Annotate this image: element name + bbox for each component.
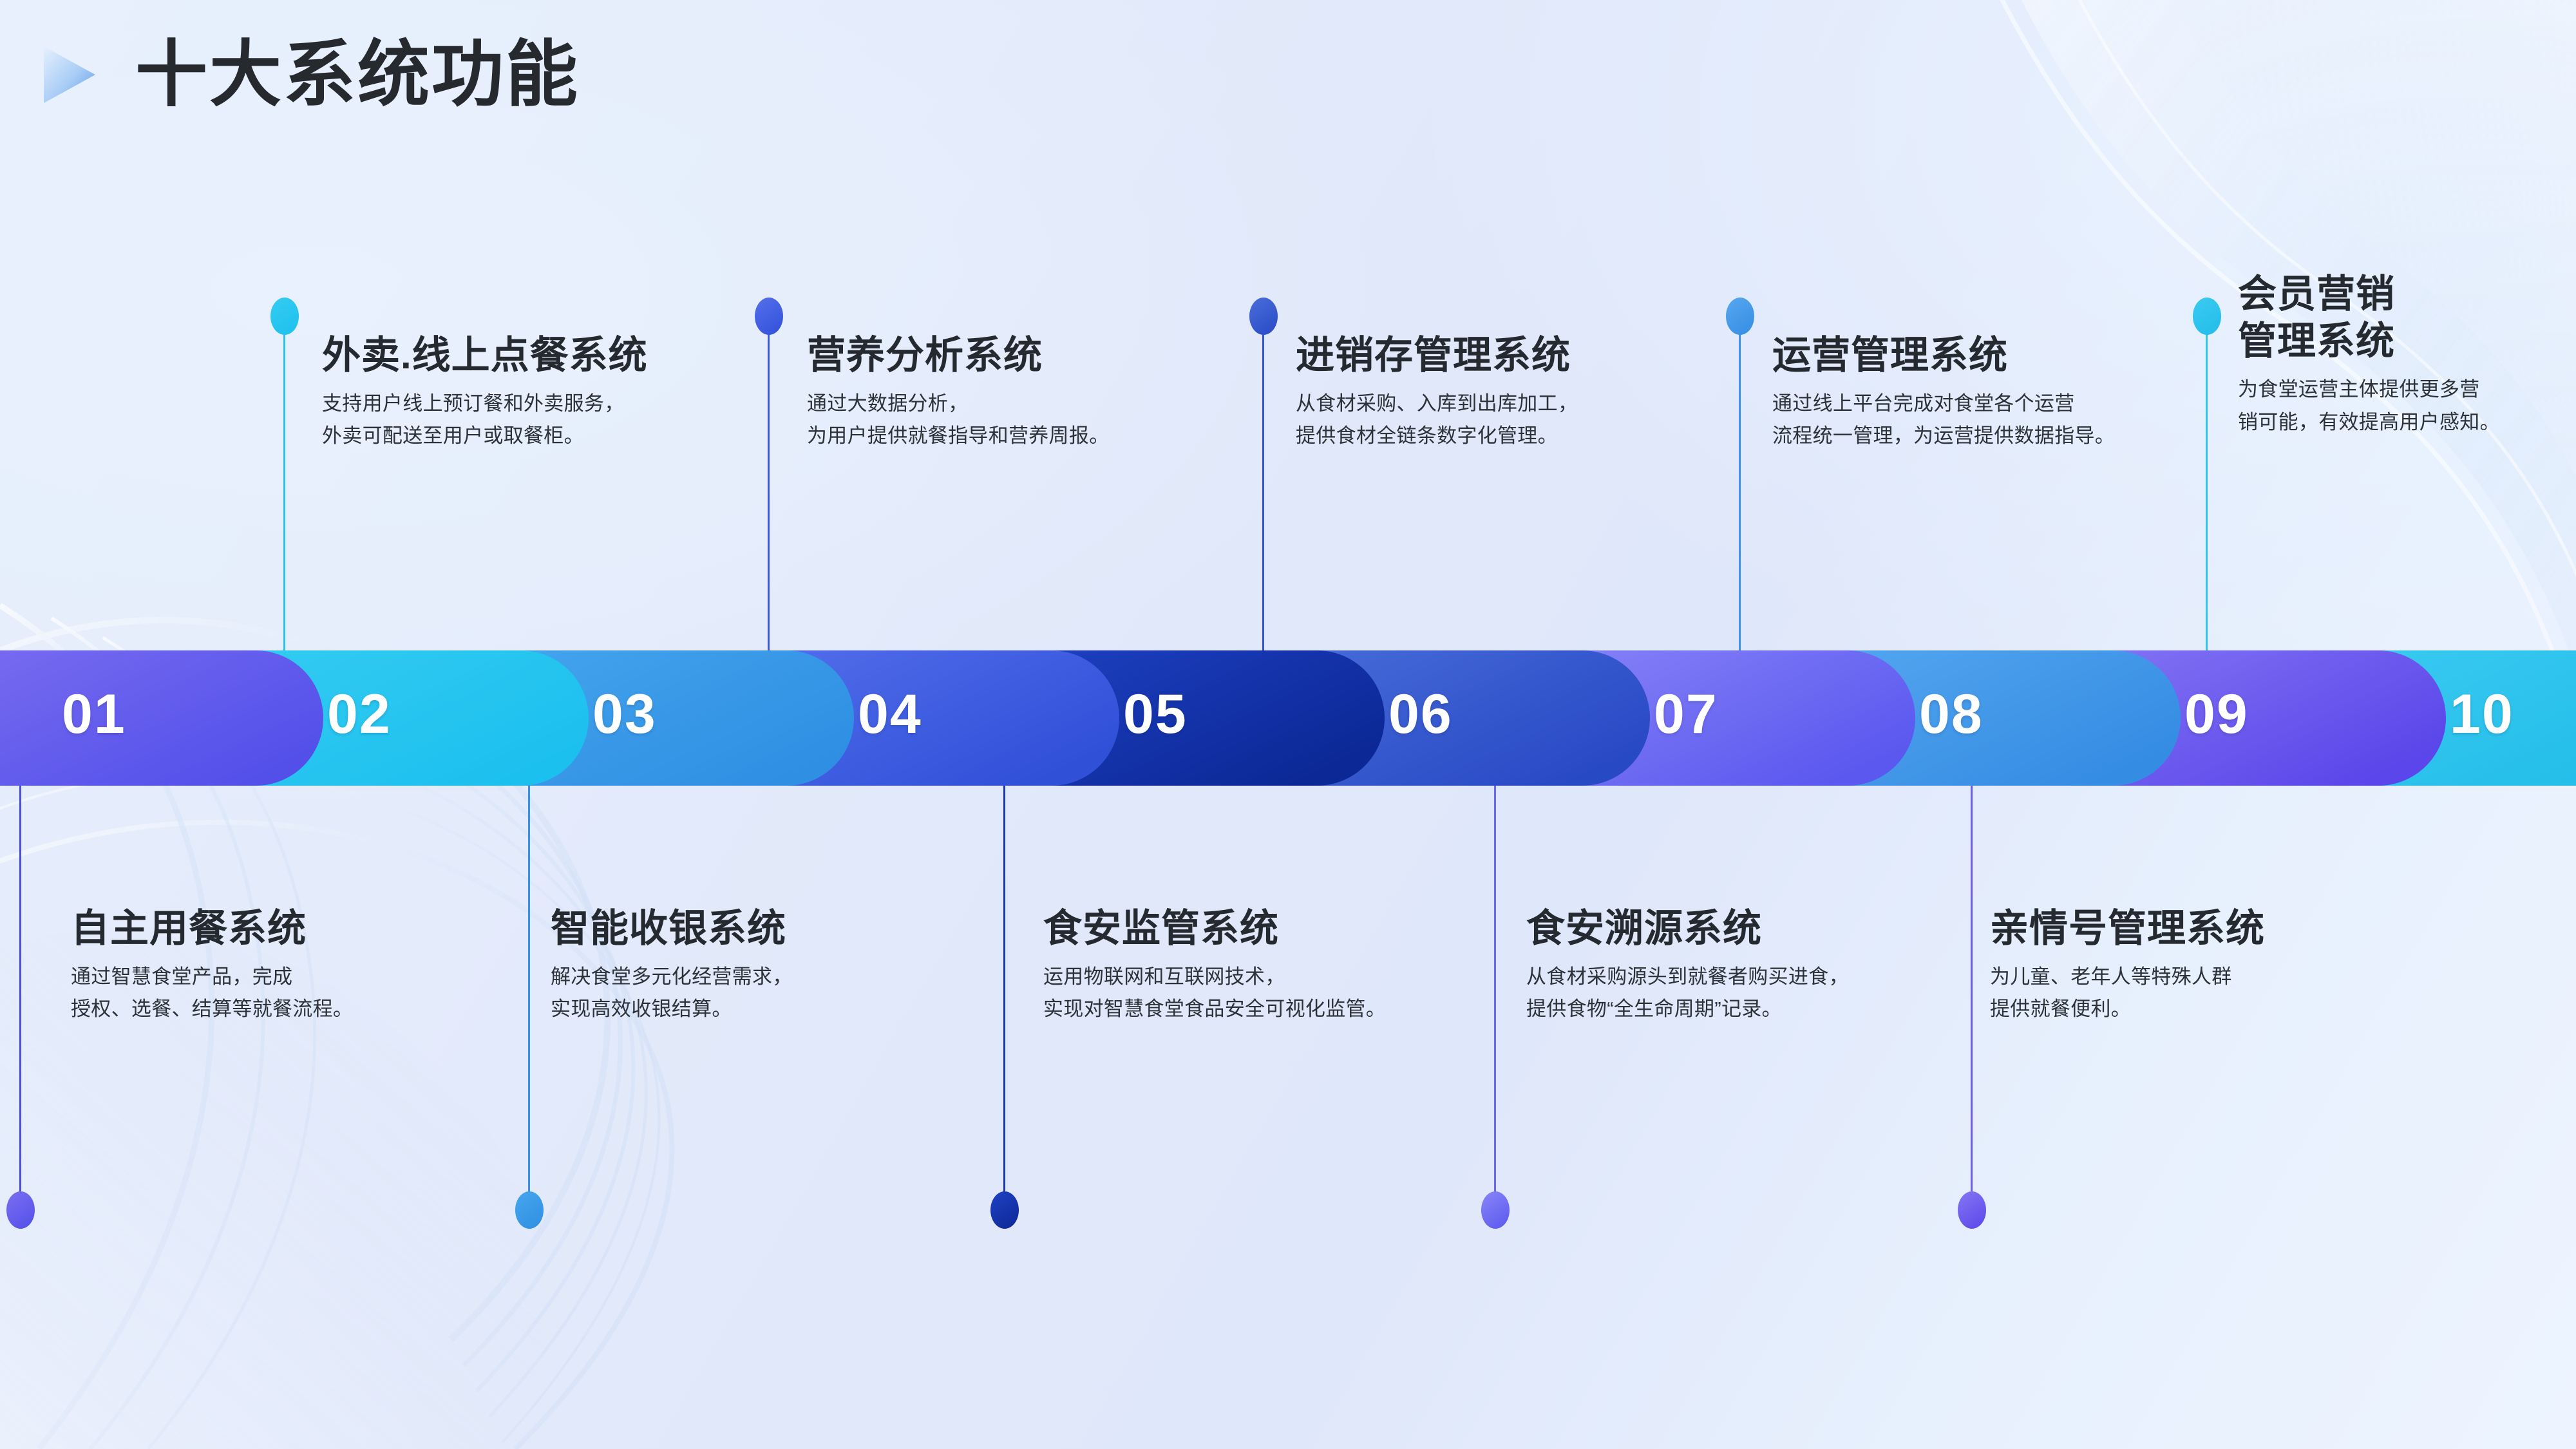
feature-block-08[interactable]: 运营管理系统通过线上平台完成对食堂各个运营 流程统一管理，为运营提供数据指导。: [1772, 332, 2115, 453]
connector-line-01: [19, 747, 21, 1211]
feature-block-09[interactable]: 亲情号管理系统为儿童、老年人等特殊人群 提供就餐便利。: [1990, 905, 2265, 1026]
feature-desc-04: 通过大数据分析， 为用户提供就餐指导和营养周报。: [807, 388, 1110, 452]
feature-title-10: 会员营销 管理系统: [2238, 270, 2500, 365]
feature-desc-09: 为儿童、老年人等特殊人群 提供就餐便利。: [1990, 961, 2265, 1025]
feature-title-01: 自主用餐系统: [71, 905, 353, 952]
connector-dot-08[interactable]: [1726, 298, 1754, 335]
feature-desc-01: 通过智慧食堂产品，完成 授权、选餐、结算等就餐流程。: [71, 961, 353, 1025]
feature-desc-03: 解决食堂多元化经营需求， 实现高效收银结算。: [551, 961, 793, 1025]
connector-line-09: [1971, 747, 1973, 1211]
connector-line-07: [1494, 747, 1496, 1211]
feature-desc-07: 从食材采购源头到就餐者购买进食， 提供食物“全生命周期”记录。: [1526, 961, 1849, 1025]
feature-title-06: 进销存管理系统: [1296, 332, 1578, 379]
segment-number-07: 07: [1654, 683, 1718, 746]
feature-block-01[interactable]: 自主用餐系统通过智慧食堂产品，完成 授权、选餐、结算等就餐流程。: [71, 905, 353, 1026]
feature-title-07: 食安溯源系统: [1526, 905, 1849, 952]
connector-dot-01[interactable]: [6, 1191, 35, 1229]
segment-number-03: 03: [592, 683, 657, 746]
feature-title-09: 亲情号管理系统: [1990, 905, 2265, 952]
feature-desc-10: 为食堂运营主体提供更多营 销可能，有效提高用户感知。: [2238, 374, 2500, 438]
connector-line-02: [283, 335, 285, 683]
feature-block-03[interactable]: 智能收银系统解决食堂多元化经营需求， 实现高效收银结算。: [551, 905, 793, 1026]
page-title: 十大系统功能: [135, 33, 580, 117]
segment-number-08: 08: [1919, 683, 1984, 746]
connector-dot-02[interactable]: [270, 298, 299, 335]
feature-desc-08: 通过线上平台完成对食堂各个运营 流程统一管理，为运营提供数据指导。: [1772, 388, 2115, 452]
connector-dot-04[interactable]: [755, 298, 783, 335]
connector-line-03: [528, 747, 530, 1211]
connector-line-08: [1739, 335, 1741, 683]
feature-block-02[interactable]: 外卖.线上点餐系统支持用户线上预订餐和外卖服务， 外卖可配送至用户或取餐柜。: [322, 332, 648, 453]
connector-line-06: [1262, 335, 1264, 683]
feature-block-05[interactable]: 食安监管系统运用物联网和互联网技术， 实现对智慧食堂食品安全可视化监管。: [1043, 905, 1386, 1026]
feature-title-05: 食安监管系统: [1043, 905, 1386, 952]
feature-title-04: 营养分析系统: [807, 332, 1110, 379]
segment-number-01: 01: [62, 683, 126, 746]
connector-line-04: [768, 335, 770, 683]
connector-dot-07[interactable]: [1481, 1191, 1510, 1229]
feature-desc-05: 运用物联网和互联网技术， 实现对智慧食堂食品安全可视化监管。: [1043, 961, 1386, 1025]
feature-block-06[interactable]: 进销存管理系统从食材采购、入库到出库加工， 提供食材全链条数字化管理。: [1296, 332, 1578, 453]
feature-desc-06: 从食材采购、入库到出库加工， 提供食材全链条数字化管理。: [1296, 388, 1578, 452]
play-triangle-icon: [40, 44, 99, 106]
segment-number-04: 04: [858, 683, 922, 746]
segment-number-10: 10: [2450, 683, 2514, 746]
feature-block-10[interactable]: 会员营销 管理系统为食堂运营主体提供更多营 销可能，有效提高用户感知。: [2238, 270, 2500, 439]
feature-block-07[interactable]: 食安溯源系统从食材采购源头到就餐者购买进食， 提供食物“全生命周期”记录。: [1526, 905, 1849, 1026]
segment-number-05: 05: [1123, 683, 1188, 746]
connector-dot-05[interactable]: [990, 1191, 1019, 1229]
connector-line-10: [2206, 335, 2208, 683]
connector-dot-06[interactable]: [1249, 298, 1278, 335]
feature-title-03: 智能收银系统: [551, 905, 793, 952]
feature-block-04[interactable]: 营养分析系统通过大数据分析， 为用户提供就餐指导和营养周报。: [807, 332, 1110, 453]
segment-number-02: 02: [327, 683, 392, 746]
connector-dot-10[interactable]: [2193, 298, 2221, 335]
segment-number-09: 09: [2184, 683, 2249, 746]
feature-title-08: 运营管理系统: [1772, 332, 2115, 379]
connector-dot-03[interactable]: [515, 1191, 544, 1229]
feature-title-02: 外卖.线上点餐系统: [322, 332, 648, 379]
feature-desc-02: 支持用户线上预订餐和外卖服务， 外卖可配送至用户或取餐柜。: [322, 388, 648, 452]
connector-line-05: [1003, 747, 1005, 1211]
connector-dot-09[interactable]: [1958, 1191, 1986, 1229]
segment-number-06: 06: [1388, 683, 1453, 746]
